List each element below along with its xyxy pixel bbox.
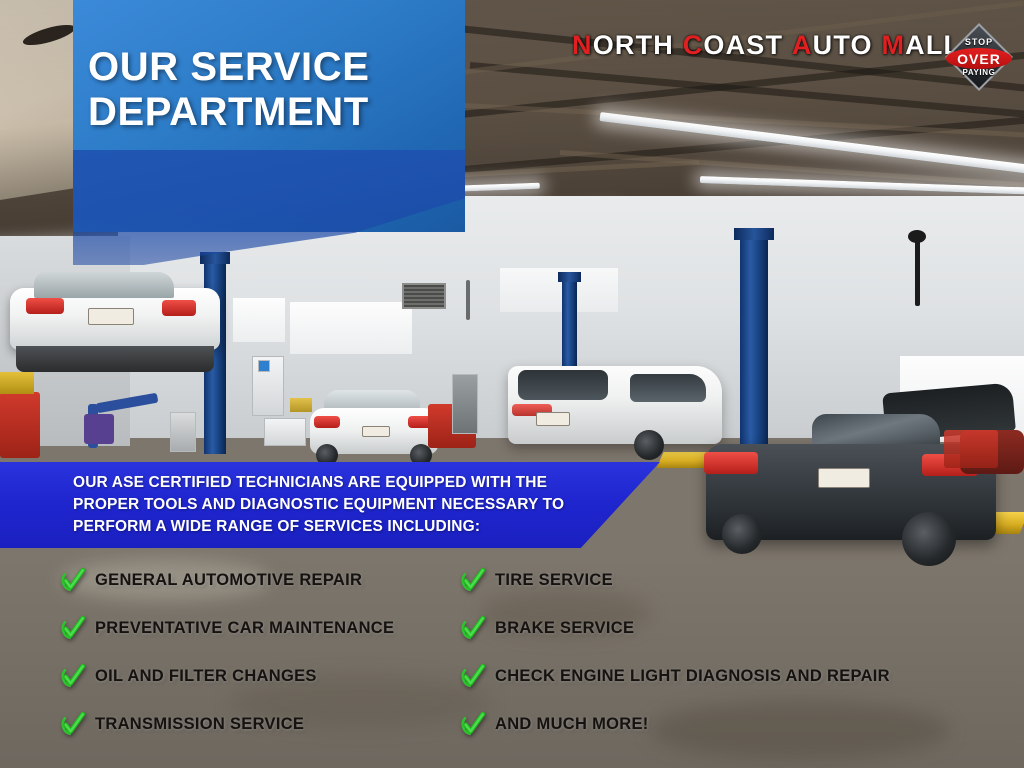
- badge-text-over: OVER: [946, 51, 1012, 67]
- hanging-hose: [915, 238, 920, 306]
- lift-post-cap: [734, 228, 774, 240]
- tail-light: [162, 300, 196, 316]
- list-item: AND MUCH MORE!: [460, 700, 1000, 748]
- vehicle-white-sedan-floor: [310, 390, 440, 472]
- badge-text-stop: STOP: [946, 37, 1012, 47]
- logo-space-2: [783, 30, 792, 61]
- green-check-icon: [460, 567, 486, 593]
- badge-text-paying: PAYING: [946, 68, 1012, 77]
- page-title-line-2: DEPARTMENT: [88, 90, 458, 136]
- logo-rest-uto: UTO: [813, 30, 873, 60]
- services-column-right: TIRE SERVICE BRAKE SERVICE: [460, 556, 1000, 748]
- logo-space-1: [674, 30, 683, 61]
- list-item: TRANSMISSION SERVICE: [60, 700, 480, 748]
- license-plate: [818, 468, 870, 488]
- service-label: TRANSMISSION SERVICE: [95, 715, 304, 734]
- license-plate: [88, 308, 134, 325]
- logo-rest-oast: OAST: [703, 30, 783, 60]
- banner-line-2: PROPER TOOLS AND DIAGNOSTIC EQUIPMENT NE…: [73, 494, 633, 516]
- service-label: TIRE SERVICE: [495, 571, 613, 590]
- service-label: PREVENTATIVE CAR MAINTENANCE: [95, 619, 394, 638]
- green-check-icon: [460, 663, 486, 689]
- banner-line-1: OUR ASE CERTIFIED TECHNICIANS ARE EQUIPP…: [73, 472, 633, 494]
- logo-rest-orth: ORTH: [593, 30, 674, 60]
- green-check-icon: [60, 567, 86, 593]
- service-label: OIL AND FILTER CHANGES: [95, 667, 317, 686]
- car-underbody: [16, 346, 214, 372]
- green-check-icon: [60, 663, 86, 689]
- trash-bin: [170, 412, 196, 452]
- services-lists: GENERAL AUTOMOTIVE REPAIR PREVENTATIVE C…: [0, 556, 1024, 746]
- stop-over-paying-badge: STOP OVER PAYING: [946, 24, 1012, 90]
- logo-word-north: NORTH: [572, 30, 674, 61]
- intro-banner-text: OUR ASE CERTIFIED TECHNICIANS ARE EQUIPP…: [73, 472, 633, 538]
- brand-logo[interactable]: NORTH COAST AUTO MALL: [572, 30, 961, 61]
- list-item: PREVENTATIVE CAR MAINTENANCE: [60, 604, 480, 652]
- page-title: OUR SERVICE DEPARTMENT: [88, 45, 458, 136]
- wall-panel: [233, 298, 285, 342]
- rear-window: [518, 370, 608, 400]
- list-item: GENERAL AUTOMOTIVE REPAIR: [60, 556, 480, 604]
- rear-window: [34, 272, 174, 298]
- logo-cap-n: N: [572, 30, 593, 60]
- vehicle-dark-sedan-lifted: [706, 388, 1006, 574]
- page-title-line-1: OUR SERVICE: [88, 45, 369, 89]
- service-label: GENERAL AUTOMOTIVE REPAIR: [95, 571, 362, 590]
- green-check-icon: [460, 615, 486, 641]
- equipment-yellow: [0, 372, 34, 394]
- tool-chest-red: [0, 392, 40, 458]
- electrical-panel: [258, 360, 270, 372]
- service-label: AND MUCH MORE!: [495, 715, 649, 734]
- service-label: BRAKE SERVICE: [495, 619, 634, 638]
- logo-cap-c: C: [683, 30, 704, 60]
- workbench: [264, 418, 306, 446]
- tail-light: [314, 416, 340, 428]
- storage-rack: [452, 374, 478, 434]
- lift-post-cap: [558, 272, 581, 282]
- license-plate: [536, 412, 570, 426]
- list-item: BRAKE SERVICE: [460, 604, 1000, 652]
- logo-cap-m: M: [881, 30, 905, 60]
- license-plate: [362, 426, 390, 437]
- tool-chest-red: [944, 430, 998, 468]
- blue-bin: [84, 414, 114, 444]
- side-window: [630, 374, 706, 402]
- wheel: [634, 430, 664, 460]
- green-check-icon: [460, 711, 486, 737]
- tail-light: [704, 452, 758, 474]
- vehicle-white-sedan-lifted: [10, 266, 226, 370]
- wheel: [722, 514, 762, 554]
- equipment-yellow: [290, 398, 312, 412]
- service-label: CHECK ENGINE LIGHT DIAGNOSIS AND REPAIR: [495, 667, 890, 686]
- list-item: TIRE SERVICE: [460, 556, 1000, 604]
- logo-cap-a: A: [792, 30, 813, 60]
- hanging-hose-nozzle: [908, 230, 926, 243]
- list-item: OIL AND FILTER CHANGES: [60, 652, 480, 700]
- logo-word-auto: AUTO: [792, 30, 873, 61]
- wall-panel: [290, 302, 412, 354]
- banner-line-3: PERFORM A WIDE RANGE OF SERVICES INCLUDI…: [73, 516, 633, 538]
- green-check-icon: [60, 711, 86, 737]
- list-item: CHECK ENGINE LIGHT DIAGNOSIS AND REPAIR: [460, 652, 1000, 700]
- green-check-icon: [60, 615, 86, 641]
- logo-word-coast: COAST: [683, 30, 784, 61]
- wall-vent: [402, 283, 446, 309]
- services-column-left: GENERAL AUTOMOTIVE REPAIR PREVENTATIVE C…: [60, 556, 480, 748]
- tail-light: [26, 298, 64, 314]
- service-department-poster: OUR SERVICE DEPARTMENT NORTH COAST AUTO …: [0, 0, 1024, 768]
- vehicle-white-suv-lifted: [508, 358, 728, 468]
- hanging-hose: [466, 280, 470, 320]
